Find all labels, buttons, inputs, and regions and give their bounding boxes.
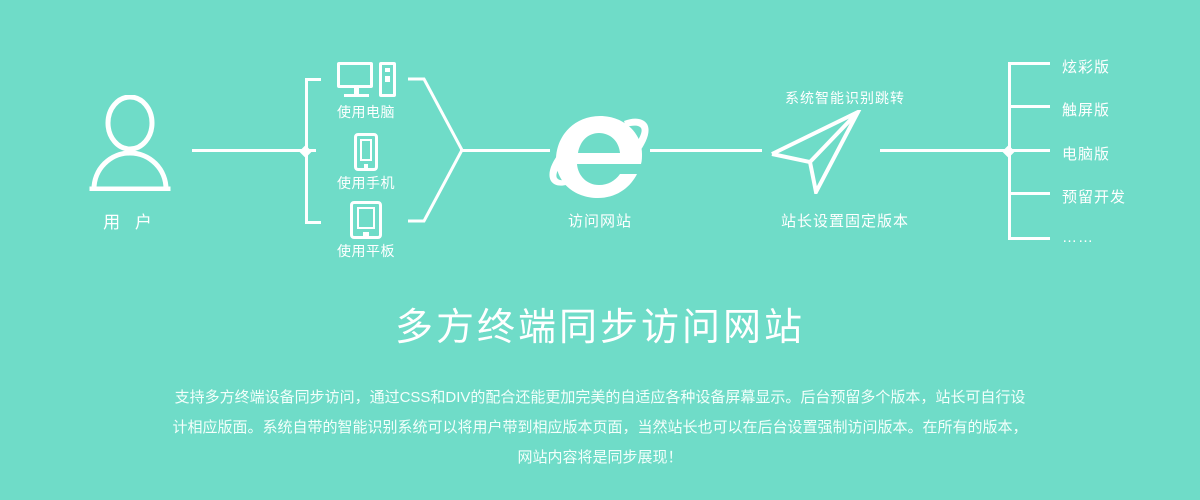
version-label-5: …… [1062,229,1094,246]
phone-home-button-icon [364,164,368,168]
version-label-4[interactable]: 预留开发 [1062,186,1126,207]
left-bracket-bottom-stub [305,221,321,224]
router-label-bottom: 站长设置固定版本 [730,210,960,231]
left-bracket-node-dot [299,145,312,158]
connector-user-to-devices [192,149,316,152]
version-label-2[interactable]: 触屏版 [1062,99,1110,120]
device-mobile-phone [354,133,378,171]
page-title: 多方终端同步访问网站 [0,296,1200,351]
user-icon [88,95,172,191]
connector-chevron-to-website [460,149,550,152]
device-label-tablet: 使用平板 [306,241,426,261]
mobile-phone-icon [354,133,378,171]
tower-slot-bottom-icon [385,76,390,82]
user-label: 用 户 [60,208,200,233]
monitor-base-icon [344,94,369,97]
phone-screen-icon [360,139,372,161]
website-label: 访问网站 [525,210,675,231]
tower-slot-top-icon [385,68,390,72]
infographic-canvas: 用 户 使用电脑 使用手机 使用平板 [0,0,1200,500]
version-label-3[interactable]: 电脑版 [1062,143,1110,164]
router-node [770,110,870,199]
version-branch-1 [1008,62,1050,65]
tablet-home-button-icon [363,232,369,236]
internet-explorer-icon [548,108,652,205]
tower-case-icon [379,62,396,97]
router-label-top: 系统智能识别跳转 [730,88,960,108]
device-desktop-computer [337,62,397,98]
tablet-icon [350,201,382,239]
monitor-screen-icon [337,62,373,88]
tablet-screen-icon [357,207,375,229]
connector-router-to-versions [880,149,1012,152]
version-branch-4 [1008,192,1050,195]
paper-plane-icon [770,110,870,199]
website-node [548,108,652,205]
version-label-1[interactable]: 炫彩版 [1062,56,1110,77]
description-paragraph: 支持多方终端设备同步访问，通过CSS和DIV的配合还能更加完美的自适应各种设备屏… [170,383,1030,473]
left-bracket-top-stub [305,78,321,81]
version-branch-3 [1008,149,1050,152]
connector-website-to-router [650,149,762,152]
device-tablet [350,201,382,239]
version-branch-2 [1008,105,1050,108]
version-branch-5 [1008,237,1050,240]
